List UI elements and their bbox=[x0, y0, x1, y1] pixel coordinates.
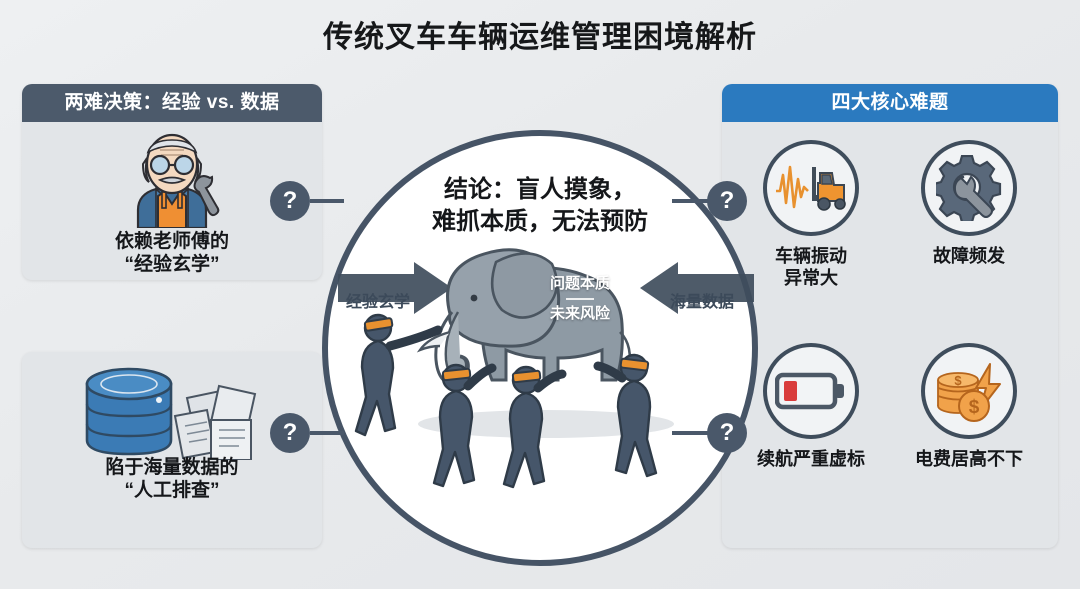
elephant-essence-tag: 问题本质 未来风险 bbox=[526, 274, 634, 325]
old-technician-icon bbox=[118, 132, 226, 228]
dilemma-experience-line2: “经验玄学” bbox=[22, 253, 322, 276]
panel-dilemma-data: 陷于海量数据的 “人工排查” bbox=[22, 352, 322, 548]
question-badge-bottom-left: ? bbox=[270, 413, 310, 453]
connector-top-left bbox=[310, 199, 344, 203]
panel-dilemma-data-body: 陷于海量数据的 “人工排查” bbox=[22, 352, 322, 548]
gear-wrench-icon bbox=[921, 140, 1017, 236]
page-title: 传统叉车车辆运维管理困境解析 bbox=[0, 12, 1080, 56]
connector-top-right bbox=[672, 199, 708, 203]
core-cost-line1: 电费居高不下 bbox=[915, 449, 1023, 471]
elephant-tag-line1: 问题本质 bbox=[550, 275, 610, 292]
dilemma-data-label: 陷于海量数据的 “人工排查” bbox=[22, 456, 322, 502]
panel-dilemma-header: 两难决策：经验 vs. 数据 bbox=[22, 84, 322, 122]
core-item-vibration-label: 车辆振动 异常大 bbox=[775, 246, 847, 289]
dilemma-data-line2: “人工排查” bbox=[22, 479, 322, 502]
dilemma-experience-line1: 依赖老师傅的 bbox=[22, 230, 322, 253]
core-item-battery-label: 续航严重虚标 bbox=[757, 449, 865, 471]
panel-core-problems: 四大核心难题 bbox=[722, 84, 1058, 548]
core-item-failure[interactable]: 故障频发 bbox=[890, 134, 1048, 337]
core-battery-line1: 续航严重虚标 bbox=[757, 449, 865, 471]
coins-lightning-icon: $ $ bbox=[921, 343, 1017, 439]
question-badge-top-right: ? bbox=[707, 181, 747, 221]
core-vibration-line1: 车辆振动 bbox=[775, 246, 847, 268]
question-badge-bottom-right: ? bbox=[707, 413, 747, 453]
svg-text:$: $ bbox=[954, 373, 962, 388]
infographic-root: 传统叉车车辆运维管理困境解析 两难决策：经验 vs. 数据 bbox=[0, 0, 1080, 589]
dilemma-data-line1: 陷于海量数据的 bbox=[22, 456, 322, 479]
core-vibration-line2: 异常大 bbox=[775, 268, 847, 290]
panel-core-header: 四大核心难题 bbox=[722, 84, 1058, 122]
center-conclusion-circle: 结论：盲人摸象， 难抓本质，无法预防 经验玄学 海量数据 bbox=[322, 130, 758, 566]
panel-core-body: 车辆振动 异常大 故障频发 bbox=[722, 122, 1058, 548]
connector-bottom-right bbox=[672, 431, 708, 435]
core-item-electricity-cost-label: 电费居高不下 bbox=[915, 449, 1023, 471]
elephant-tag-line2: 未来风险 bbox=[550, 305, 610, 322]
database-documents-icon bbox=[79, 360, 265, 460]
elephant-tag-separator bbox=[566, 298, 594, 300]
core-item-failure-label: 故障频发 bbox=[933, 246, 1005, 268]
svg-text:$: $ bbox=[969, 397, 980, 418]
low-battery-icon bbox=[763, 343, 859, 439]
forklift-vibration-icon bbox=[763, 140, 859, 236]
core-item-electricity-cost[interactable]: $ $ 电费居高不下 bbox=[890, 337, 1048, 540]
question-badge-top-left: ? bbox=[270, 181, 310, 221]
connector-bottom-left bbox=[310, 431, 344, 435]
panel-dilemma-experience: 两难决策：经验 vs. 数据 bbox=[22, 84, 322, 280]
core-failure-line1: 故障频发 bbox=[933, 246, 1005, 268]
dilemma-experience-label: 依赖老师傅的 “经验玄学” bbox=[22, 230, 322, 276]
